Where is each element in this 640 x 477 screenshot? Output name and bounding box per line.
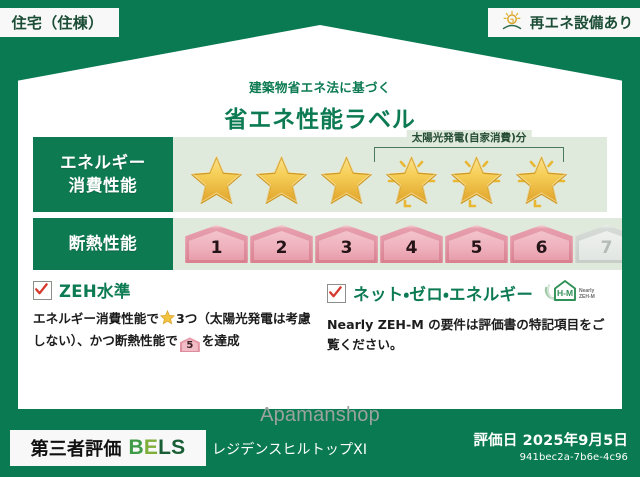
evaluation-id: 941bec2a-7b6e-4c96	[474, 452, 628, 463]
solar-bracket-line	[374, 147, 564, 162]
solar-bracket: 太陽光発電(自家消費)分	[374, 142, 564, 162]
housing-type-badge: 住宅（住棟）	[0, 8, 119, 37]
criterion-zeh: ZEH水準 エネルギー消費性能で 3つ（太陽光発電は考慮しない）、かつ断熱性能で…	[33, 278, 313, 356]
criterion-nze-body: Nearly ZEH-M の要件は評価書の特記項目をご覧ください。	[327, 315, 607, 356]
insulation-level-value: 1	[211, 238, 223, 258]
criteria-section: ZEH水準 エネルギー消費性能で 3つ（太陽光発電は考慮しない）、かつ断熱性能で…	[33, 278, 607, 356]
renewable-equipment-badge: 再エネ設備あり	[488, 8, 640, 37]
card-title-block: 建築物省エネ法に基づく 省エネ性能ラベル	[18, 77, 622, 134]
criterion-nze: ネット・ゼロ・エネルギー H-M Nearly ZEH-M Nearly ZEH…	[327, 278, 607, 356]
criterion-zeh-body-post: を達成	[202, 333, 240, 348]
bels-badge: 第三者評価 BELS	[10, 430, 206, 466]
bels-letter-b: B	[129, 436, 144, 459]
criterion-zeh-title: ZEH水準	[59, 278, 131, 302]
criterion-zeh-body-pre: エネルギー消費性能で	[33, 311, 159, 326]
bels-jp-label: 第三者評価	[31, 435, 122, 461]
svg-text:H-M: H-M	[557, 288, 573, 298]
inline-star-icon	[160, 310, 175, 331]
insulation-level-value: 6	[536, 238, 548, 258]
nearly-zehm-logo-icon: H-M Nearly ZEH-M	[544, 278, 600, 308]
insulation-level-1: 1	[185, 225, 248, 263]
housing-type-label: 住宅（住棟）	[12, 12, 104, 33]
insulation-level-strip: 1234567	[173, 225, 638, 263]
star-icon	[185, 151, 248, 209]
solar-bracket-label: 太陽光発電(自家消費)分	[407, 130, 532, 145]
insulation-level-2: 2	[250, 225, 313, 263]
energy-performance-row: エネルギー 消費性能	[33, 137, 607, 212]
insulation-level-value: 4	[406, 238, 418, 258]
checkbox-nze	[327, 284, 346, 303]
checkbox-zeh	[33, 281, 52, 300]
energy-label-root: 住宅（住棟） 再エネ設備あり 建築物省エネ法に基づく 省エネ性能ラベ	[0, 0, 640, 477]
footer: 第三者評価 BELS レジデンスヒルトップXI 評価日 2025年9月5日 94…	[0, 420, 640, 477]
inline-house-level: 5	[180, 337, 200, 352]
insulation-performance-label: 断熱性能	[33, 218, 173, 270]
insulation-performance-body: 1234567	[173, 218, 638, 270]
energy-performance-body: 太陽光発電(自家消費)分	[173, 137, 607, 212]
insulation-level-6: 6	[510, 225, 573, 263]
ratings-section: エネルギー 消費性能	[33, 137, 607, 270]
insulation-level-value: 7	[601, 238, 613, 258]
insulation-level-value: 2	[276, 238, 288, 258]
insulation-label-text: 断熱性能	[69, 233, 138, 255]
star-icon	[315, 151, 378, 209]
sun-icon	[501, 10, 525, 36]
insulation-level-5: 5	[445, 225, 508, 263]
bels-en-label: BELS	[129, 436, 186, 460]
criterion-nze-head: ネット・ゼロ・エネルギー H-M Nearly ZEH-M	[327, 278, 607, 308]
building-name: レジデンスヒルトップXI	[212, 439, 367, 459]
label-title: 省エネ性能ラベル	[18, 100, 622, 134]
insulation-level-value: 5	[471, 238, 483, 258]
bels-letter-e: E	[144, 436, 158, 459]
insulation-level-3: 3	[315, 225, 378, 263]
evaluation-date: 評価日 2025年9月5日	[474, 429, 628, 450]
energy-label-line2: 消費性能	[69, 175, 138, 197]
label-subtitle: 建築物省エネ法に基づく	[18, 77, 622, 96]
energy-label-line1: エネルギー	[60, 152, 146, 174]
insulation-level-value: 3	[341, 238, 353, 258]
criterion-zeh-head: ZEH水準	[33, 278, 313, 302]
energy-performance-label: エネルギー 消費性能	[33, 137, 173, 212]
evaluation-block: 評価日 2025年9月5日 941bec2a-7b6e-4c96	[474, 429, 628, 463]
bels-letters-ls: LS	[158, 436, 185, 459]
criterion-zeh-body: エネルギー消費性能で 3つ（太陽光発電は考慮しない）、かつ断熱性能で 5 を達成	[33, 309, 313, 352]
insulation-level-4: 4	[380, 225, 443, 263]
renewable-badge-label: 再エネ設備あり	[530, 12, 633, 33]
insulation-performance-row: 断熱性能 1234567	[33, 218, 607, 270]
label-card: 建築物省エネ法に基づく 省エネ性能ラベル エネルギー 消費性能	[18, 25, 622, 409]
star-icon	[250, 151, 313, 209]
insulation-level-7: 7	[575, 225, 638, 263]
svg-text:ZEH-M: ZEH-M	[579, 294, 595, 300]
inline-house-level-value: 5	[186, 340, 193, 351]
criterion-nze-title: ネット・ゼロ・エネルギー	[353, 281, 533, 305]
